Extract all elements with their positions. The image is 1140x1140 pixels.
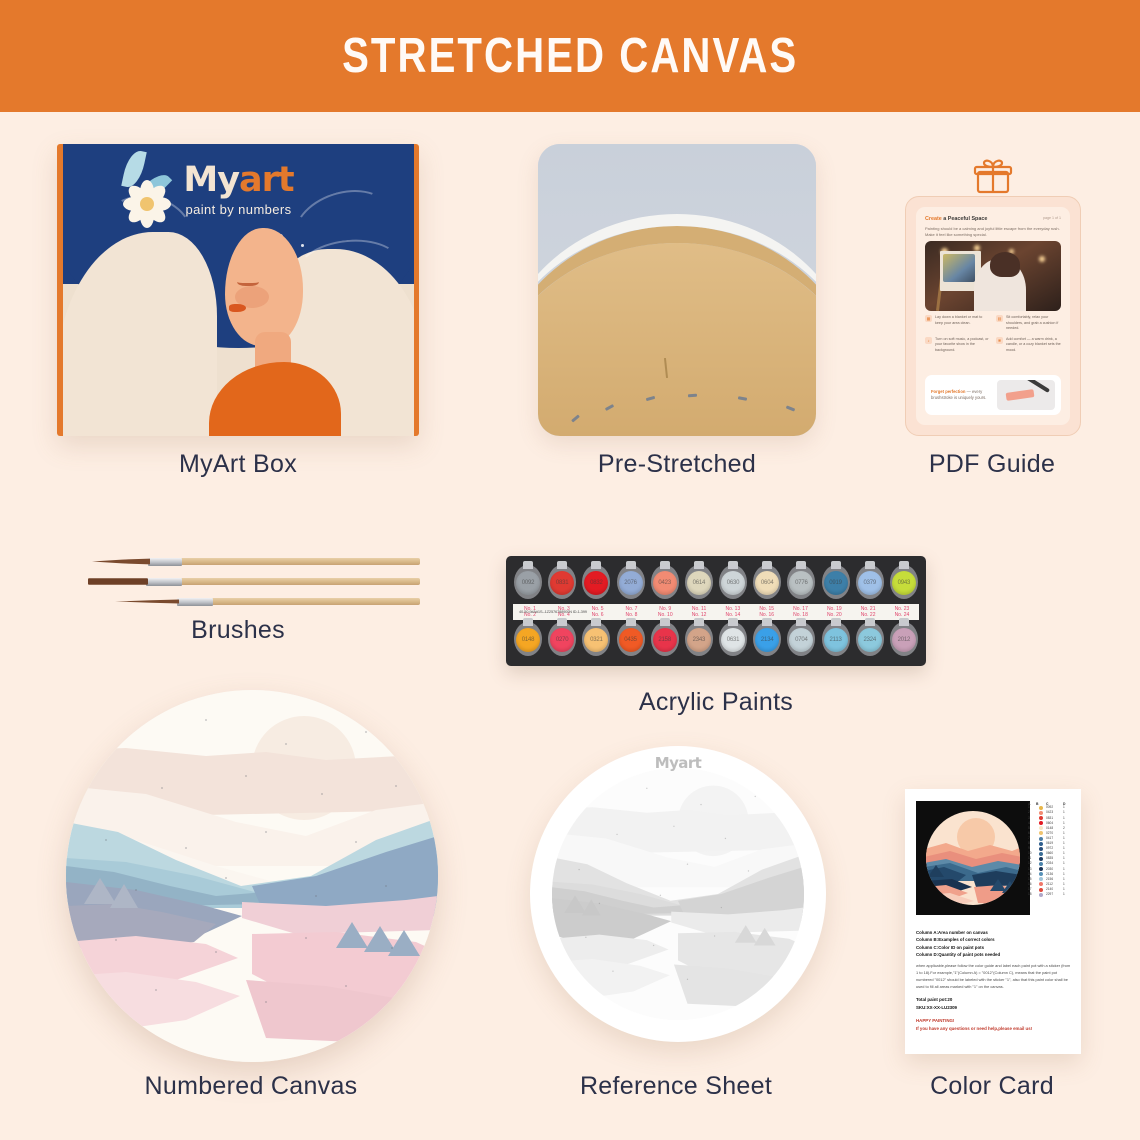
cell-quantity: 1 — [1063, 852, 1071, 855]
bokeh-light — [1039, 256, 1045, 262]
table-row: 1421361 — [1028, 872, 1072, 876]
cell-quantity: 1 — [1063, 862, 1071, 865]
tip-item: ♪ Turn on soft music, a podcast, or your… — [925, 337, 990, 354]
pot-paint-disc: 0379 — [858, 571, 882, 595]
box-artwork: Myart paint by numbers — [57, 144, 419, 436]
cell-color-swatch — [1036, 877, 1046, 881]
cell-color-swatch — [1036, 882, 1046, 886]
cell-quantity: 1 — [1063, 847, 1071, 850]
brush-ferrule — [148, 558, 182, 566]
tip-text: Lay down a blanket or mat to keep your a… — [935, 315, 990, 332]
paint-pot: 0776 — [786, 561, 816, 604]
table-row: 1721401 — [1028, 888, 1072, 892]
paint-sku-text: 40-50-9#A#1S--1Z2576788900N ID-1-399 — [519, 609, 587, 614]
color-card-image: A B C D 10092120423130831140604150148260… — [905, 789, 1081, 1054]
cell-area-number: 18 — [1028, 893, 1036, 896]
paint-number-cell: No. 13No. 14 — [718, 606, 748, 619]
paint-pot: 0604 — [752, 561, 782, 604]
cell-area-number: 10 — [1028, 852, 1036, 855]
paint-pot: 0270 — [547, 618, 577, 661]
paint-pot: 0435 — [616, 618, 646, 661]
paint-number-cell: No. 15No. 16 — [752, 606, 782, 619]
pot-paint-disc: 0630 — [721, 571, 745, 595]
cell-color-swatch — [1036, 806, 1046, 810]
cell-color-swatch — [1036, 872, 1046, 876]
table-row: 1006601 — [1028, 852, 1072, 856]
pot-paint-disc: 0321 — [584, 628, 608, 652]
myart-logo: Myart paint by numbers — [63, 160, 414, 217]
cell-area-number: 2 — [1028, 811, 1036, 814]
pot-code: 0604 — [761, 580, 774, 586]
brush-ferrule — [146, 578, 182, 586]
tip-item: ▤ Sit comfortably, relax your shoulders,… — [996, 315, 1061, 332]
cell-area-number: 17 — [1028, 888, 1036, 891]
shoulder-shirt — [209, 362, 341, 436]
pot-paint-disc: 0943 — [892, 571, 916, 595]
pdf-heading: Create a Peaceful Space — [925, 216, 1061, 222]
canvas-edge-wrap — [538, 214, 816, 436]
reference-inner-circle — [552, 768, 804, 1020]
cell-area-number: 9 — [1028, 847, 1036, 850]
paint-pot: 0614 — [684, 561, 714, 604]
newspaper-icon: ▦ — [925, 315, 932, 322]
pdf-sheet-outer: Create a Peaceful Space page 1 of 1 Pain… — [905, 196, 1081, 436]
cell-quantity: 1 — [1063, 822, 1071, 825]
brush-handle — [180, 558, 420, 565]
table-row: 602701 — [1028, 831, 1072, 835]
cell-area-number: 13 — [1028, 868, 1036, 871]
color-card-table: A B C D 10092120423130831140604150148260… — [1028, 802, 1072, 898]
gift-icon — [973, 158, 1013, 194]
cell-color-id: 0619 — [1046, 842, 1063, 845]
pot-paint-disc: 0832 — [584, 571, 608, 595]
daisy-flower-icon — [121, 178, 173, 230]
caption-pdf-guide: PDF Guide — [929, 450, 1055, 479]
table-row: 308311 — [1028, 816, 1072, 820]
cell-quantity: 1 — [1063, 806, 1071, 809]
numbered-canvas-image — [66, 690, 438, 1062]
brush-handle — [180, 578, 420, 585]
pot-code: 0423 — [658, 580, 671, 586]
paint-pot: 2012 — [889, 618, 919, 661]
paint-pot: 2343 — [684, 618, 714, 661]
table-body: 1009212042313083114060415014826027017041… — [1028, 806, 1072, 897]
cell-color-swatch — [1036, 837, 1046, 841]
cell-color-id: 0604 — [1046, 822, 1063, 825]
paint-swatch — [1006, 389, 1035, 401]
logo-my: My — [183, 160, 239, 200]
caption-brushes: Brushes — [191, 616, 285, 645]
myart-box-image: Myart paint by numbers — [57, 144, 419, 436]
cell-quantity: 1 — [1063, 893, 1071, 896]
tip-item: ▦ Lay down a blanket or mat to keep your… — [925, 315, 990, 332]
pdf-guide-image: Create a Peaceful Space page 1 of 1 Pain… — [905, 196, 1081, 436]
cell-quantity: 1 — [1063, 868, 1071, 871]
pot-paint-disc: 0919 — [824, 571, 848, 595]
cell-color-id: 0423 — [1046, 811, 1063, 814]
brush-flat — [88, 578, 420, 585]
pot-code: 0630 — [727, 580, 740, 586]
page-title: STRETCHED CANVAS — [342, 28, 798, 84]
tip-text: Sit comfortably, relax your shoulders, a… — [1006, 315, 1061, 332]
paint-pot: 0631 — [718, 618, 748, 661]
sku-label: SKU:XX-XX-LU2309 — [916, 1004, 1071, 1011]
paint-pot: 2076 — [616, 561, 646, 604]
chair-icon: ▤ — [996, 315, 1003, 322]
contact-line: If you have any questions or need help,p… — [916, 1025, 1071, 1032]
painting-artwork — [943, 254, 976, 282]
cell-color-id: 0831 — [1046, 817, 1063, 820]
brushstroke-photo — [997, 380, 1055, 410]
cell-color-id: 2112 — [1046, 883, 1063, 886]
cell-color-id: 0270 — [1046, 832, 1063, 835]
pot-paint-disc: 0704 — [789, 628, 813, 652]
pot-paint-disc: 2134 — [755, 628, 779, 652]
staple — [688, 394, 697, 398]
cell-color-id: 0148 — [1046, 827, 1063, 830]
paint-number-cell: No. 17No. 18 — [786, 606, 816, 619]
pot-paint-disc: 2343 — [687, 628, 711, 652]
paint-number-cell: No. 11No. 12 — [684, 606, 714, 619]
candle-icon: ❋ — [996, 337, 1003, 344]
pot-paint-disc: 2012 — [892, 628, 916, 652]
acrylic-paints-image: 0092083108322076042306140630060407760919… — [506, 556, 926, 666]
brushes-image — [60, 548, 420, 618]
table-row: 909721 — [1028, 847, 1072, 851]
paint-pot: 2324 — [855, 618, 885, 661]
total-paint-pot: Total paint pot:20 — [916, 996, 1071, 1003]
pot-code: 0943 — [898, 580, 911, 586]
cell-quantity: 1 — [1063, 842, 1071, 845]
stretched-canvas-photo — [538, 144, 816, 436]
cell-area-number: 1 — [1028, 806, 1036, 809]
tip-text: Turn on soft music, a podcast, or your f… — [935, 337, 990, 354]
paint-number-cell: No. 21No. 22 — [853, 606, 883, 619]
table-row: 1521561 — [1028, 877, 1072, 881]
cell-quantity: 1 — [1063, 817, 1071, 820]
pot-code: 0831 — [556, 580, 569, 586]
cell-quantity: 1 — [1063, 873, 1071, 876]
paint-pot: 0321 — [581, 618, 611, 661]
table-row: 1822971 — [1028, 893, 1072, 897]
cell-color-swatch — [1036, 893, 1046, 897]
cell-color-swatch — [1036, 888, 1046, 892]
cell-color-swatch — [1036, 811, 1046, 815]
table-row: 406041 — [1028, 821, 1072, 825]
table-row: 704171 — [1028, 837, 1072, 841]
table-row: 806191 — [1028, 842, 1072, 846]
paint-number-cell: No. 5No. 6 — [583, 606, 613, 619]
legend-line: Column D:Quantity of paint pots needed — [916, 951, 1071, 958]
table-row: 1320301 — [1028, 867, 1072, 871]
table-row: 1621121 — [1028, 882, 1072, 886]
pdf-page-label: page 1 of 1 — [1043, 216, 1061, 220]
cell-area-number: 7 — [1028, 837, 1036, 840]
cell-color-id: 2140 — [1046, 888, 1063, 891]
brush-handle — [210, 598, 420, 605]
pot-paint-disc: 0831 — [550, 571, 574, 595]
infographic-page: STRETCHED CANVAS — [0, 0, 1140, 1140]
pot-code: 0704 — [795, 637, 808, 643]
pot-code: 0614 — [693, 580, 706, 586]
pot-paint-disc: 0423 — [653, 571, 677, 595]
reference-myart-logo: Myart — [530, 754, 826, 772]
cell-color-id: 2030 — [1046, 868, 1063, 871]
logo-art: art — [239, 160, 294, 200]
cell-area-number: 12 — [1028, 862, 1036, 865]
pot-paint-disc: 2076 — [619, 571, 643, 595]
pot-paint-disc: 0092 — [516, 571, 540, 595]
table-row: 1220341 — [1028, 862, 1072, 866]
pdf-footer-card: Forget perfection — every brushstroke is… — [925, 375, 1061, 415]
cell-color-swatch — [1036, 826, 1046, 830]
cell-color-id: 2297 — [1046, 893, 1063, 896]
paint-pot: 2113 — [821, 618, 851, 661]
flower-core — [140, 197, 154, 211]
pre-stretched-image — [538, 144, 816, 436]
legend-line: Column C:Color ID on paint pots — [916, 944, 1071, 951]
pdf-photo — [925, 241, 1061, 311]
cell-color-id: 0660 — [1046, 852, 1063, 855]
color-card-text: Column A:Area number on canvas Column B:… — [916, 929, 1071, 1032]
cell-quantity: 1 — [1063, 837, 1071, 840]
footer-bold: Forget perfection — [931, 389, 965, 394]
pot-paint-disc: 0614 — [687, 571, 711, 595]
pot-code: 2134 — [761, 637, 774, 643]
caption-color-card: Color Card — [930, 1072, 1054, 1101]
pot-code: 0832 — [590, 580, 603, 586]
cell-color-swatch — [1036, 852, 1046, 856]
paint-row-bottom: 0148027003210435215823430631213407042113… — [513, 618, 919, 661]
cell-quantity: 2 — [1063, 827, 1071, 830]
person-hair — [990, 252, 1020, 277]
pdf-footer-text: Forget perfection — every brushstroke is… — [931, 389, 992, 402]
pot-code: 2158 — [658, 637, 671, 643]
paint-number-cell: No. 23No. 24 — [887, 606, 917, 619]
cell-quantity: 1 — [1063, 883, 1071, 886]
pot-paint-disc: 2113 — [824, 628, 848, 652]
cell-color-swatch — [1036, 857, 1046, 861]
paint-row-top: 0092083108322076042306140630060407760919… — [513, 561, 919, 604]
pot-code: 2324 — [863, 637, 876, 643]
cell-quantity: 1 — [1063, 811, 1071, 814]
paint-pot: 0423 — [650, 561, 680, 604]
pot-paint-disc: 0604 — [755, 571, 779, 595]
pot-code: 0435 — [624, 637, 637, 643]
caption-numbered-canvas: Numbered Canvas — [145, 1072, 358, 1101]
pot-code: 2343 — [693, 637, 706, 643]
cell-color-id: 2034 — [1046, 862, 1063, 865]
paint-pot: 2158 — [650, 618, 680, 661]
cell-color-id: 0092 — [1046, 806, 1063, 809]
cell-color-id: 0417 — [1046, 837, 1063, 840]
cell-color-swatch — [1036, 867, 1046, 871]
pot-code: 0919 — [829, 580, 842, 586]
cell-area-number: 14 — [1028, 873, 1036, 876]
pot-paint-disc: 0270 — [550, 628, 574, 652]
happy-painting: HAPPY PAINTING! — [916, 1017, 1071, 1024]
table-row: 1108351 — [1028, 857, 1072, 861]
brush-ferrule — [177, 598, 213, 606]
cell-area-number: 5 — [1028, 827, 1036, 830]
cell-color-id: 2156 — [1046, 878, 1063, 881]
logo-tagline: paint by numbers — [63, 202, 414, 217]
cell-color-id: 0835 — [1046, 857, 1063, 860]
pdf-heading-accent: Create — [925, 216, 942, 222]
pot-code: 0092 — [522, 580, 535, 586]
cell-area-number: 8 — [1028, 842, 1036, 845]
pdf-heading-rest: a Peaceful Space — [942, 216, 988, 222]
pot-code: 2012 — [898, 637, 911, 643]
brush-tip — [92, 558, 150, 565]
paint-pot: 0379 — [855, 561, 885, 604]
cell-quantity: 1 — [1063, 878, 1071, 881]
pot-code: 0321 — [590, 637, 603, 643]
reference-sheet-image: Myart — [530, 746, 826, 1042]
color-card-artwork — [916, 801, 1030, 915]
paint-number-cell: No. 9No. 10 — [650, 606, 680, 619]
cell-area-number: 3 — [1028, 817, 1036, 820]
caption-acrylic-paints: Acrylic Paints — [639, 688, 793, 717]
brush-detail — [115, 598, 420, 605]
paint-pot: 0092 — [513, 561, 543, 604]
cell-color-swatch — [1036, 862, 1046, 866]
pdf-tips-list: ▦ Lay down a blanket or mat to keep your… — [925, 315, 1061, 353]
color-card-landscape — [916, 801, 1030, 915]
reference-artwork — [552, 768, 804, 1020]
paint-pot: 0148 — [513, 618, 543, 661]
pot-paint-disc: 0776 — [789, 571, 813, 595]
legend-line: Column A:Area number on canvas — [916, 929, 1071, 936]
cell-color-swatch — [1036, 821, 1046, 825]
paint-pot: 0832 — [581, 561, 611, 604]
pot-code: 0270 — [556, 637, 569, 643]
brush-tip — [88, 578, 148, 585]
cell-color-swatch — [1036, 831, 1046, 835]
paint-pot: 0831 — [547, 561, 577, 604]
pot-paint-disc: 2324 — [858, 628, 882, 652]
pot-code: 0379 — [863, 580, 876, 586]
cell-quantity: 1 — [1063, 832, 1071, 835]
head-shape — [225, 228, 303, 346]
cell-area-number: 15 — [1028, 878, 1036, 881]
paint-pot: 0630 — [718, 561, 748, 604]
pot-paint-disc: 0435 — [619, 628, 643, 652]
table-row: 204231 — [1028, 811, 1072, 815]
pdf-subtitle: Painting should be a calming and joyful … — [925, 226, 1061, 238]
caption-pre-stretched: Pre-Stretched — [598, 450, 756, 479]
brush-tip — [115, 598, 179, 605]
tip-text: Add comfort — a warm drink, a candle, or… — [1006, 337, 1061, 354]
paint-tray: 0092083108322076042306140630060407760919… — [506, 556, 926, 666]
cell-area-number: 11 — [1028, 857, 1036, 860]
cell-quantity: 1 — [1063, 857, 1071, 860]
pdf-sheet-inner: Create a Peaceful Space page 1 of 1 Pain… — [916, 207, 1070, 425]
table-row: 501482 — [1028, 826, 1072, 830]
closed-eye — [237, 276, 259, 286]
numbered-canvas-artwork — [66, 690, 438, 1062]
cell-area-number: 16 — [1028, 883, 1036, 886]
pot-code: 2113 — [829, 637, 841, 643]
pot-paint-disc: 0148 — [516, 628, 540, 652]
paint-pot: 2134 — [752, 618, 782, 661]
legend-line: Column B:Examples of correct colors — [916, 936, 1071, 943]
paint-number-cell: No. 19No. 20 — [819, 606, 849, 619]
caption-reference-sheet: Reference Sheet — [580, 1072, 772, 1101]
pot-code: 0776 — [795, 580, 808, 586]
cell-color-swatch — [1036, 816, 1046, 820]
pot-paint-disc: 2158 — [653, 628, 677, 652]
caption-myart-box: MyArt Box — [179, 450, 297, 479]
paint-number-cell: No. 7No. 8 — [616, 606, 646, 619]
page-header: STRETCHED CANVAS — [0, 0, 1140, 112]
cell-color-id: 2136 — [1046, 873, 1063, 876]
pot-paint-disc: 0631 — [721, 628, 745, 652]
paint-pot: 0704 — [786, 618, 816, 661]
instructions-paragraph: when applicable,please follow the color … — [916, 963, 1071, 990]
table-row: 100921 — [1028, 806, 1072, 810]
cell-quantity: 1 — [1063, 888, 1071, 891]
cell-area-number: 6 — [1028, 832, 1036, 835]
cell-color-swatch — [1036, 842, 1046, 846]
cell-area-number: 4 — [1028, 822, 1036, 825]
pot-code: 0148 — [522, 637, 535, 643]
pot-code: 2076 — [624, 580, 637, 586]
music-icon: ♪ — [925, 337, 932, 344]
lips — [229, 304, 246, 312]
pot-code: 0631 — [727, 637, 740, 643]
woman-illustration — [215, 228, 323, 418]
paint-pot: 0919 — [821, 561, 851, 604]
cell-color-id: 0972 — [1046, 847, 1063, 850]
paint-pot: 0943 — [889, 561, 919, 604]
tip-item: ❋ Add comfort — a warm drink, a candle, … — [996, 337, 1061, 354]
brush-round — [92, 558, 420, 565]
cell-color-swatch — [1036, 847, 1046, 851]
